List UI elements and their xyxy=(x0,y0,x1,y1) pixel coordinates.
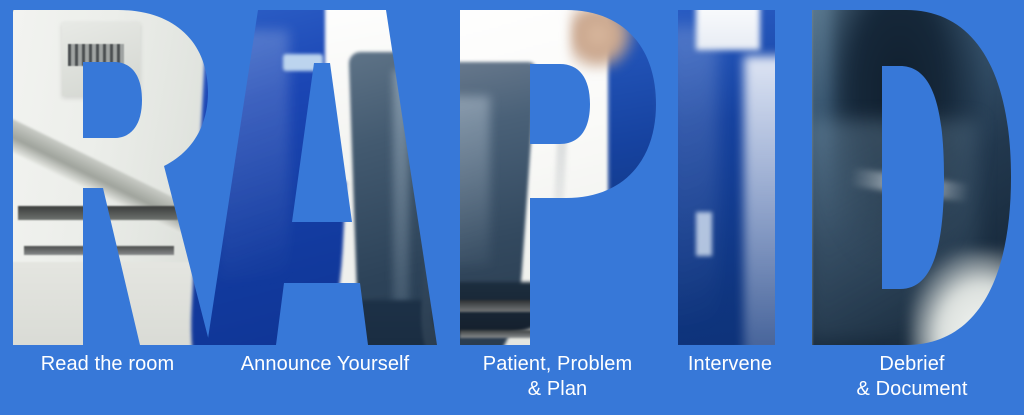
caption-intervene: Intervene xyxy=(660,352,800,377)
scrubs-pocket-i xyxy=(696,212,712,256)
scrubs-highlight xyxy=(219,30,289,280)
scrubs-badge xyxy=(283,54,323,71)
floor-bar-lower xyxy=(460,330,556,338)
wall-handrail xyxy=(0,108,215,245)
wall-ledge-upper xyxy=(18,206,178,220)
blurred-hand xyxy=(570,6,640,70)
wall-equipment-grill xyxy=(68,44,124,66)
caption-read-the-room: Read the room xyxy=(0,352,215,377)
white-garment-top-i xyxy=(696,0,760,50)
white-garment-side-i xyxy=(744,56,788,356)
wall-ledge-lower xyxy=(24,246,174,255)
rapid-banner: Read the room Announce Yourself Patient,… xyxy=(0,0,1024,415)
caption-row: Read the room Announce Yourself Patient,… xyxy=(0,349,1024,415)
caption-patient-problem-plan: Patient, Problem & Plan xyxy=(440,352,675,402)
floor-bar-upper xyxy=(454,300,562,312)
caption-debrief-document: Debrief & Document xyxy=(800,352,1024,402)
jeans-highlight-p xyxy=(450,96,490,266)
scrubs-highlight-i xyxy=(666,26,718,326)
caption-announce-yourself: Announce Yourself xyxy=(205,352,445,377)
